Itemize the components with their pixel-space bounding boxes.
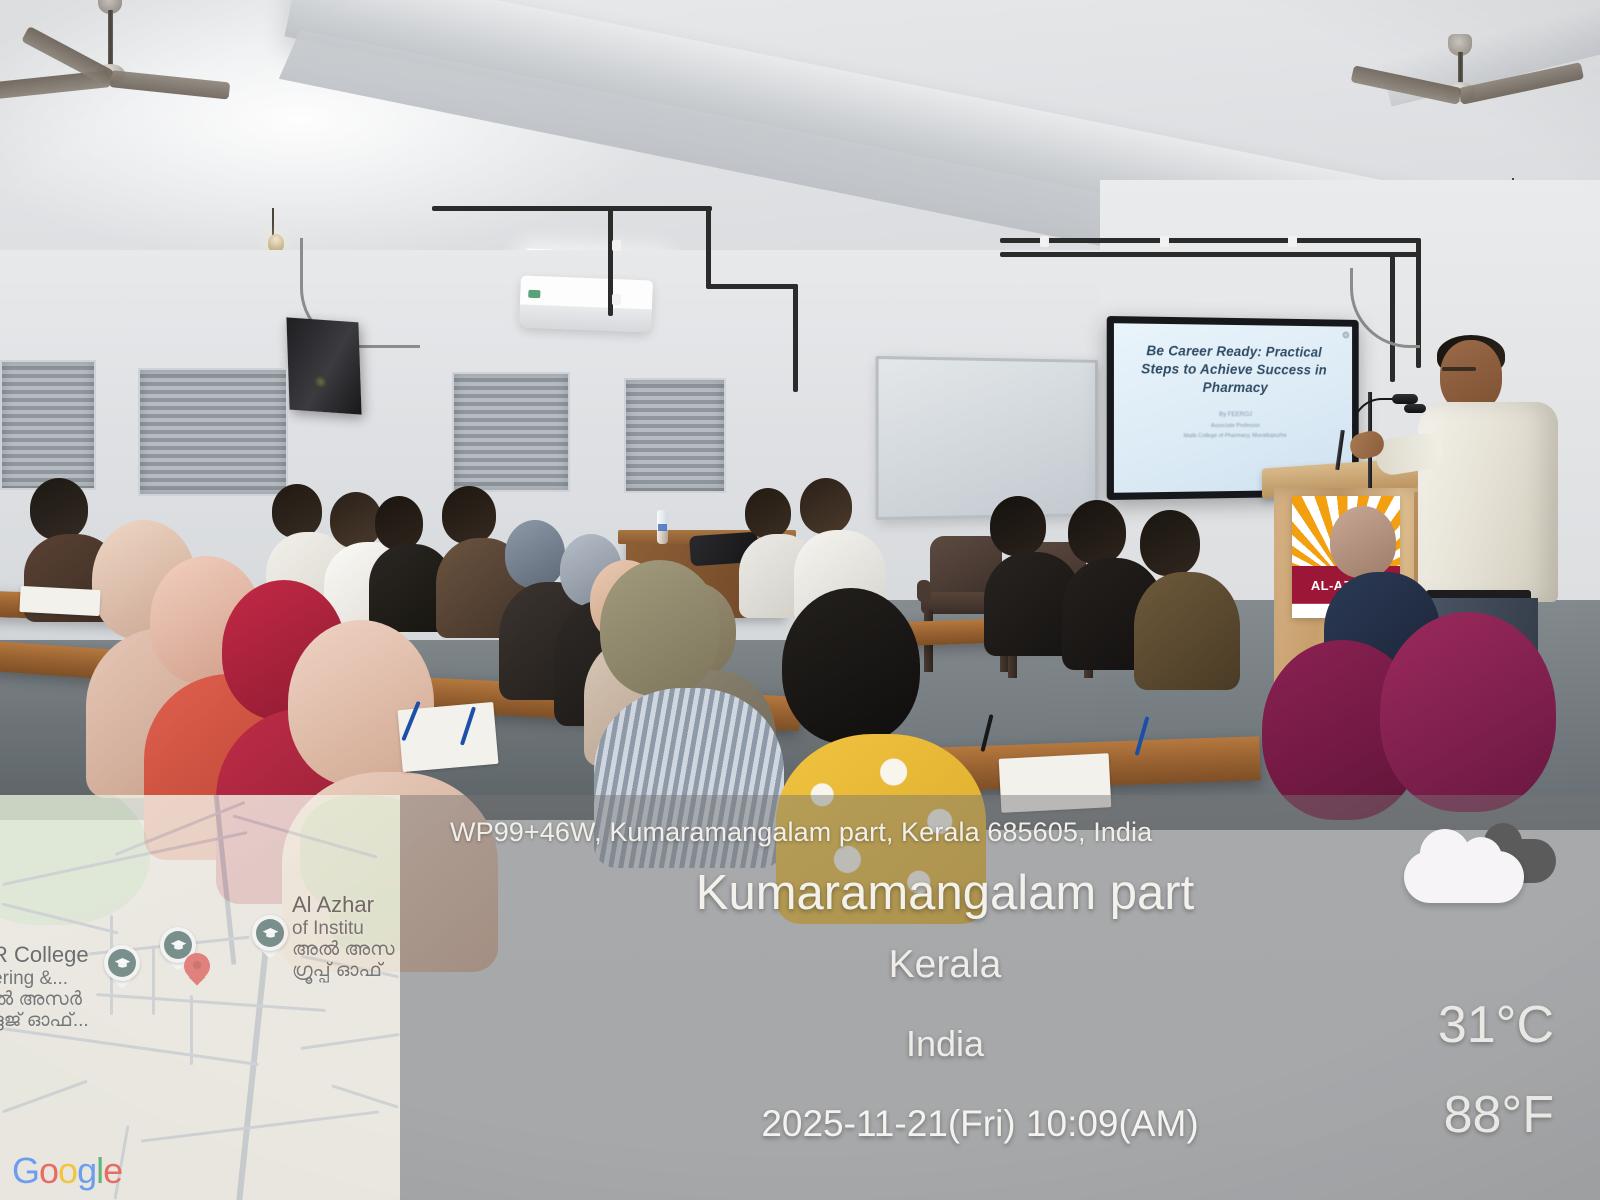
audience-person — [990, 496, 1066, 626]
window-blind-4 — [0, 360, 96, 490]
air-conditioner-unit — [519, 275, 653, 332]
pipe-clip — [1288, 236, 1297, 247]
person-head — [1068, 500, 1126, 564]
speaker-glasses — [1442, 367, 1476, 371]
temperature-celsius: 31°C — [1438, 995, 1554, 1055]
google-logo: Google — [12, 1150, 122, 1192]
map-label-right: Al Azhar of Institu അൽ അസ ഗ്രൂപ്പ് ഓഫ് — [292, 893, 394, 981]
conduit-pipe — [432, 206, 712, 211]
person-head — [745, 488, 791, 538]
conduit-pipe — [1000, 252, 1420, 257]
state-name: Kerala — [400, 943, 1490, 987]
audience-person — [375, 496, 445, 606]
person-head — [1380, 612, 1556, 812]
audience-person-foreground — [600, 560, 750, 810]
address-line: WP99+46W, Kumaramangalam part, Kerala 68… — [450, 817, 1152, 848]
display-led-icon — [1343, 331, 1350, 338]
water-bottle — [657, 510, 668, 544]
conduit-pipe — [706, 206, 711, 288]
conduit-pipe — [1000, 238, 1420, 243]
map-label-left-local2: ദ്ദജ് ഓഫ്... — [0, 1010, 89, 1031]
window-blind-2 — [452, 372, 570, 492]
audience-person — [1140, 510, 1220, 660]
google-letter: e — [103, 1150, 122, 1191]
person-head — [505, 520, 565, 588]
notebook-page — [19, 586, 100, 616]
audience-person — [30, 478, 100, 588]
map-label-right-local: അൽ അസ — [292, 939, 394, 960]
slide-presenter-affiliation: Malik College of Pharmacy, Muvattupuzha — [1183, 431, 1286, 442]
slide-title: Be Career Ready: Practical Steps to Achi… — [1126, 342, 1340, 397]
google-letter: g — [77, 1150, 96, 1191]
pipe-clip — [1040, 236, 1049, 247]
map-label-left-local: ൽ അസർ — [0, 989, 89, 1010]
person-head — [442, 486, 496, 544]
gps-info-panel: WP99+46W, Kumaramangalam part, Kerala 68… — [400, 795, 1600, 1200]
google-letter: o — [39, 1150, 58, 1191]
gps-camera-overlay: R College ering &... ൽ അസർ ദ്ദജ് ഓഫ്... … — [0, 795, 1600, 1200]
audience-person — [800, 478, 870, 596]
person-head — [600, 560, 720, 696]
partly-cloudy-icon — [1398, 831, 1558, 927]
map-label-right-local2: ഗ്രൂപ്പ് ഓഫ് — [292, 960, 394, 981]
person-head — [375, 496, 423, 550]
city-name: Kumaramangalam part — [400, 865, 1490, 921]
microphone-head — [1392, 394, 1418, 404]
map-label-left-title: R College — [0, 942, 89, 967]
college-marker-left[interactable] — [104, 945, 140, 989]
slide-presenter-name: By FEEROJ — [1183, 409, 1286, 421]
slide-presenter-role: Associate Professor — [1183, 421, 1286, 432]
pipe-clip — [612, 240, 621, 251]
fan-rod — [1458, 52, 1463, 86]
map-pin-center — [193, 961, 201, 969]
map-thumbnail[interactable]: R College ering &... ൽ അസർ ദ്ദജ് ഓഫ്... … — [0, 795, 400, 1200]
speaker-shirt — [1418, 402, 1558, 602]
wall-speaker — [286, 317, 361, 414]
pipe-clip — [1160, 236, 1169, 247]
map-road — [152, 945, 155, 1015]
map-label-left: R College ering &... ൽ അസർ ദ്ദജ് ഓഫ്... — [0, 943, 89, 1031]
person-head — [272, 484, 322, 538]
pipe-clip — [612, 294, 621, 305]
person-torso — [1134, 572, 1240, 690]
person-head — [990, 496, 1046, 556]
slide-presenter-block: By FEEROJ Associate Professor Malik Coll… — [1183, 409, 1286, 441]
google-letter: o — [58, 1150, 77, 1191]
google-letter: G — [12, 1150, 39, 1191]
current-location-pin[interactable] — [184, 953, 210, 987]
person-head — [1140, 510, 1200, 576]
conduit-pipe — [706, 284, 798, 289]
college-marker-right[interactable] — [252, 915, 288, 959]
fan-rod — [108, 10, 113, 68]
cloud-white-shape — [1404, 851, 1524, 903]
person-head — [800, 478, 852, 534]
map-label-left-title2: ering &... — [0, 968, 89, 989]
window-blind-1 — [138, 368, 288, 496]
graduation-cap-icon — [256, 919, 284, 947]
audience-person-foreground — [1380, 612, 1580, 812]
datetime-stamp: 2025-11-21(Fri) 10:09(AM) — [400, 1103, 1560, 1145]
conduit-pipe — [793, 284, 798, 392]
graduation-cap-icon — [108, 949, 136, 977]
audience-person — [442, 486, 512, 606]
map-label-right-title2: of Institu — [292, 918, 394, 939]
person-head — [782, 588, 920, 744]
temperature-fahrenheit: 88°F — [1444, 1085, 1554, 1145]
map-label-right-title: Al Azhar — [292, 892, 374, 917]
screenshot-root: Be Career Ready: Practical Steps to Achi… — [0, 0, 1600, 1200]
window-blind-3 — [624, 378, 726, 493]
person-head — [30, 478, 88, 540]
person-head — [1330, 506, 1396, 578]
country-name: India — [400, 1023, 1490, 1065]
